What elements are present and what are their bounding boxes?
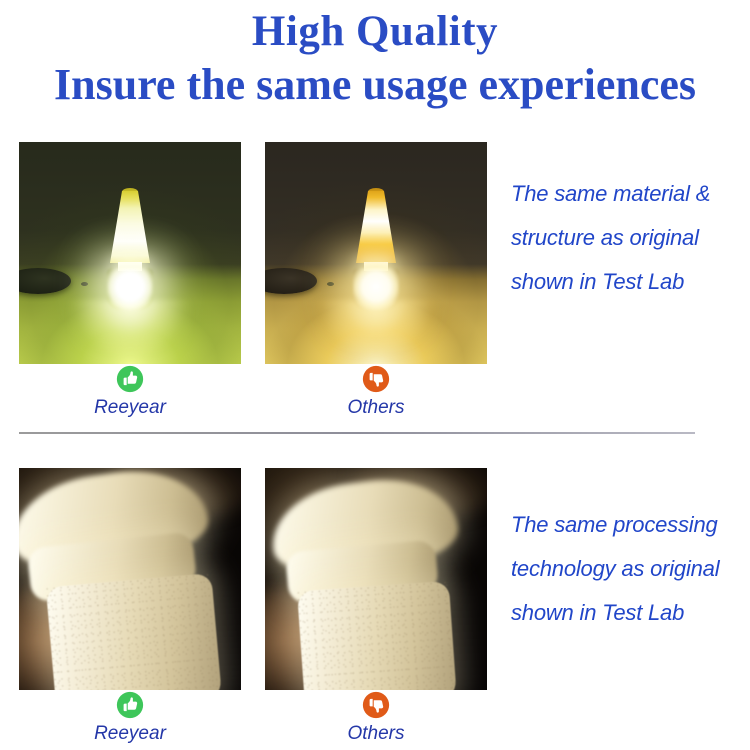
surface-speck [81, 282, 88, 286]
page-title-line-1: High Quality [0, 6, 750, 58]
thumbs-down-icon [362, 365, 390, 393]
surface-speck [327, 282, 334, 286]
product-photo-reeyear-led [19, 142, 241, 364]
photo-scene-green [19, 142, 241, 364]
photo-scene-macro [19, 468, 241, 690]
earplug-barrel [46, 573, 223, 690]
led-base-glow [107, 268, 153, 310]
thumbs-up-icon [116, 691, 144, 719]
section-divider [19, 432, 695, 434]
thumbs-up-icon [116, 365, 144, 393]
caption-reeyear-bottom: Reeyear [19, 691, 241, 747]
caption-others-top: Others [265, 365, 487, 421]
foam-texture [46, 573, 223, 690]
led-base-glow [353, 268, 399, 310]
surface-disc [265, 268, 317, 294]
product-photo-others-led [265, 142, 487, 364]
section-description-material-structure: The same material & structure as origina… [511, 172, 747, 304]
page-title-line-2: Insure the same usage experiences [0, 58, 750, 112]
brand-label: Reeyear [19, 395, 241, 421]
brand-label: Others [265, 395, 487, 421]
brand-label: Others [265, 721, 487, 747]
caption-others-bottom: Others [265, 691, 487, 747]
product-photo-reeyear-macro [19, 468, 241, 690]
earplug-cone [110, 191, 150, 263]
caption-reeyear-top: Reeyear [19, 365, 241, 421]
page-header: High Quality Insure the same usage exper… [0, 0, 750, 112]
surface-disc [19, 268, 71, 294]
photo-scene-macro [265, 468, 487, 690]
thumbs-down-icon [362, 691, 390, 719]
earplug-cone [356, 191, 396, 263]
brand-label: Reeyear [19, 721, 241, 747]
product-photo-others-macro [265, 468, 487, 690]
earplug-barrel [297, 581, 457, 690]
photo-scene-amber [265, 142, 487, 364]
section-description-processing-technology: The same processing technology as origin… [511, 503, 747, 635]
foam-texture [297, 581, 457, 690]
